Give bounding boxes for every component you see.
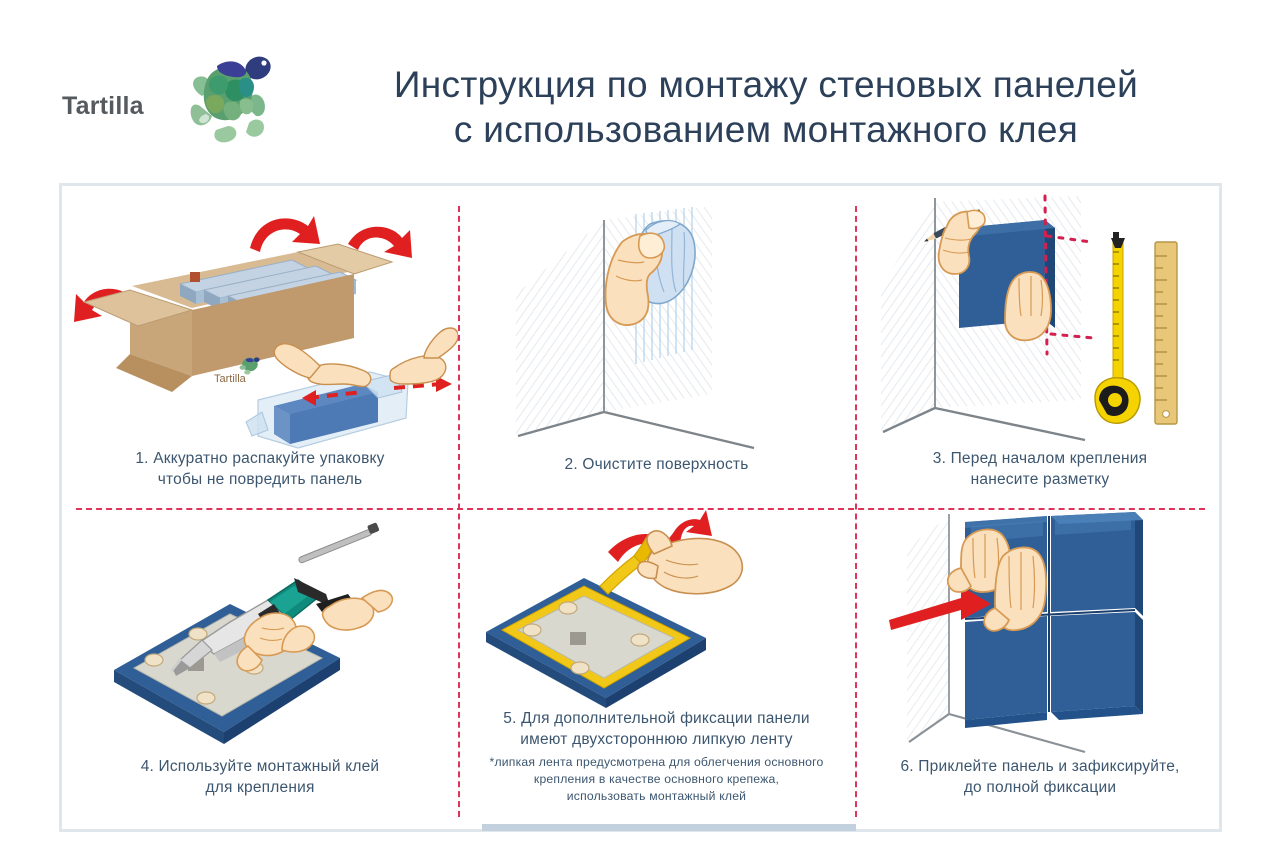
cardboard-box-with-panels-and-hands: Tartilla — [62, 186, 458, 476]
step-cell-5: 5. Для дополнительной фиксации панели им… — [458, 508, 855, 835]
caption-line: чтобы не повредить панель — [62, 469, 458, 490]
step-caption-5: 5. Для дополнительной фиксации панели им… — [458, 708, 855, 750]
poster-header: Tartilla — [0, 0, 1280, 175]
step-caption-4: 4. Используйте монтажный клей для крепле… — [62, 756, 458, 798]
step-cell-4: 4. Используйте монтажный клей для крепле… — [62, 508, 458, 835]
instruction-poster: Tartilla — [0, 0, 1280, 856]
step-cell-3: 3. Перед началом крепления нанесите разм… — [855, 186, 1225, 508]
caption-line: имеют двухстороннюю липкую ленту — [458, 729, 855, 750]
title-line-2: с использованием монтажного клея — [296, 107, 1236, 152]
hand-wiping-wall-corner-with-cloth — [458, 186, 855, 476]
step-caption-2: 2. Очистите поверхность — [458, 454, 855, 475]
caption-line: 1. Аккуратно распакуйте упаковку — [62, 448, 458, 469]
turtle-logo-icon — [186, 44, 278, 146]
step-caption-3: 3. Перед началом крепления нанесите разм… — [855, 448, 1225, 490]
step-caption-6: 6. Приклейте панель и зафиксируйте, до п… — [855, 756, 1225, 798]
caption-line: до полной фиксации — [855, 777, 1225, 798]
step-cell-1: Tartilla — [62, 186, 458, 508]
hand-marking-wall-with-pencil-tape-measure-ruler — [855, 186, 1225, 476]
page-title: Инструкция по монтажу стеновых панелей с… — [296, 62, 1236, 152]
caption-line: 6. Приклейте панель и зафиксируйте, — [855, 756, 1225, 777]
brand-name: Tartilla — [62, 92, 144, 121]
step-cell-2: 2. Очистите поверхность — [458, 186, 855, 508]
caption-line: для крепления — [62, 777, 458, 798]
box-brand-text: Tartilla — [214, 373, 247, 385]
caption-line: 4. Используйте монтажный клей — [62, 756, 458, 777]
title-line-1: Инструкция по монтажу стеновых панелей — [394, 64, 1138, 105]
footnote-line: крепления в качестве основного крепежа, — [458, 771, 855, 788]
caption-line: нанесите разметку — [855, 469, 1225, 490]
step-footnote-5: *липкая лента предусмотрена для облегчен… — [458, 754, 855, 805]
step-cell-6: 6. Приклейте панель и зафиксируйте, до п… — [855, 508, 1225, 835]
step-caption-1: 1. Аккуратно распакуйте упаковку чтобы н… — [62, 448, 458, 490]
steps-frame: Tartilla — [59, 183, 1222, 832]
bottom-accent-bar — [482, 824, 856, 831]
caption-line: 3. Перед началом крепления — [855, 448, 1225, 469]
hand-peeling-double-sided-tape-from-panel — [458, 508, 855, 708]
caulking-gun-applying-adhesive-to-panel-back — [62, 508, 458, 768]
caption-line: 2. Очистите поверхность — [458, 454, 855, 475]
two-hands-pressing-four-panels-on-wall — [855, 508, 1225, 768]
caption-line: 5. Для дополнительной фиксации панели — [458, 708, 855, 729]
footnote-line: использовать монтажный клей — [458, 788, 855, 805]
footnote-line: *липкая лента предусмотрена для облегчен… — [458, 754, 855, 771]
